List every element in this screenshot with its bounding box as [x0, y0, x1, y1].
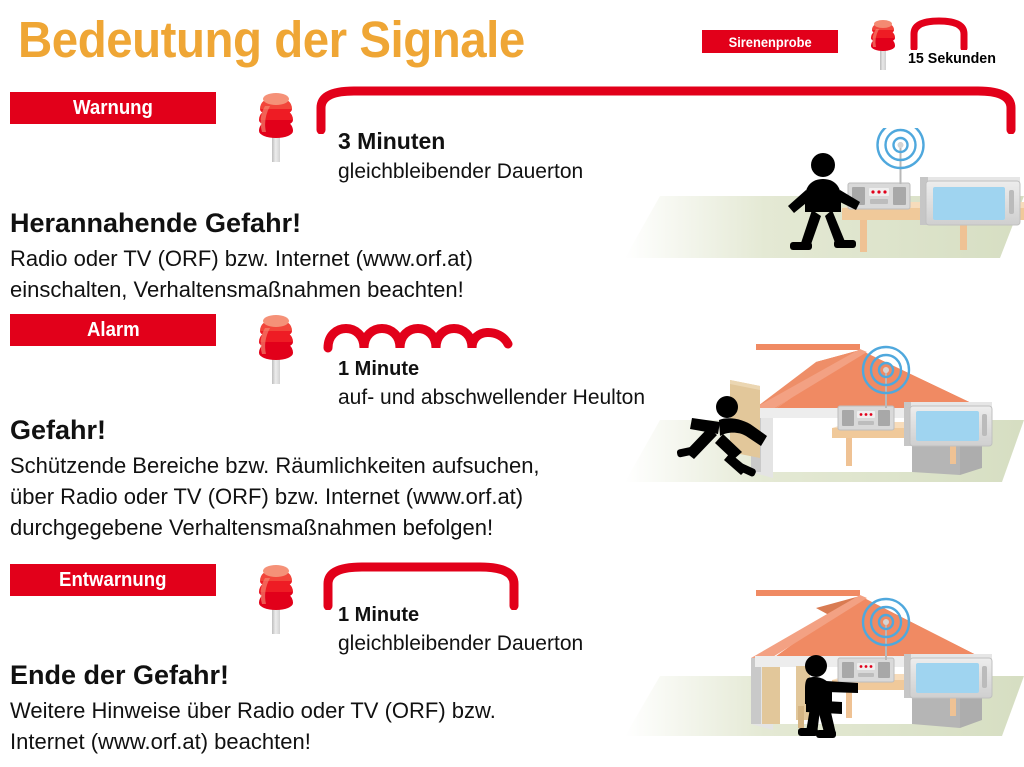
section-body: Weitere Hinweise über Radio oder TV (ORF…	[10, 695, 496, 757]
tone-duration: 1 Minute	[338, 604, 419, 627]
short-steady-tone-icon	[322, 562, 520, 610]
section-body: Radio oder TV (ORF) bzw. Internet (www.o…	[10, 243, 473, 305]
section-headline: Herannahende Gefahr!	[10, 208, 301, 239]
scene-person-seated-listening-to-radio	[620, 548, 1024, 763]
scene-person-outdoors-with-radio-and-tv	[620, 128, 1024, 293]
television	[904, 654, 992, 698]
undulating-wave-tone-icon	[322, 314, 522, 362]
section-headline: Ende der Gefahr!	[10, 660, 229, 691]
body-line: Radio oder TV (ORF) bzw. Internet (www.o…	[10, 243, 473, 274]
tone-duration: 3 Minuten	[338, 128, 445, 155]
scene-person-running-into-house	[620, 300, 1024, 500]
body-line: Internet (www.orf.at) beachten!	[10, 726, 496, 757]
siren-icon	[252, 310, 300, 384]
header: Bedeutung der Signale Sirenenprobe 15 Se…	[0, 0, 1024, 80]
body-line: einschalten, Verhaltensmaßnahmen beachte…	[10, 274, 473, 305]
short-steady-tone-arc-icon	[908, 16, 970, 50]
label-text: Alarm	[87, 319, 140, 342]
body-line: Weitere Hinweise über Radio oder TV (ORF…	[10, 695, 496, 726]
long-steady-tone-icon	[316, 86, 1016, 134]
tone-description: gleichbleibender Dauerton	[338, 632, 583, 656]
tone-description: auf- und abschwellender Heulton	[338, 386, 645, 410]
siren-icon	[866, 16, 900, 70]
section-label-warnung: Warnung	[10, 92, 216, 124]
infographic-page: Bedeutung der Signale Sirenenprobe 15 Se…	[0, 0, 1024, 767]
television	[920, 177, 1020, 225]
section-headline: Gefahr!	[10, 415, 106, 446]
page-title: Bedeutung der Signale	[18, 10, 525, 69]
body-line: durchgegebene Verhaltensmaßnahmen befolg…	[10, 512, 540, 543]
sirenenprobe-duration: 15 Sekunden	[908, 50, 996, 67]
body-line: Schützende Bereiche bzw. Räumlichkeiten …	[10, 450, 540, 481]
tone-duration: 1 Minute	[338, 358, 419, 381]
siren-icon	[252, 560, 300, 634]
television	[904, 402, 992, 446]
label-text: Warnung	[73, 97, 153, 120]
section-body: Schützende Bereiche bzw. Räumlichkeiten …	[10, 450, 540, 543]
label-text: Entwarnung	[59, 569, 166, 592]
body-line: über Radio oder TV (ORF) bzw. Internet (…	[10, 481, 540, 512]
section-label-entwarnung: Entwarnung	[10, 564, 216, 596]
sirenenprobe-badge: Sirenenprobe	[702, 30, 838, 53]
section-label-alarm: Alarm	[10, 314, 216, 346]
tone-description: gleichbleibender Dauerton	[338, 160, 583, 184]
sirenenprobe-label: Sirenenprobe	[728, 34, 811, 50]
siren-icon	[252, 88, 300, 162]
